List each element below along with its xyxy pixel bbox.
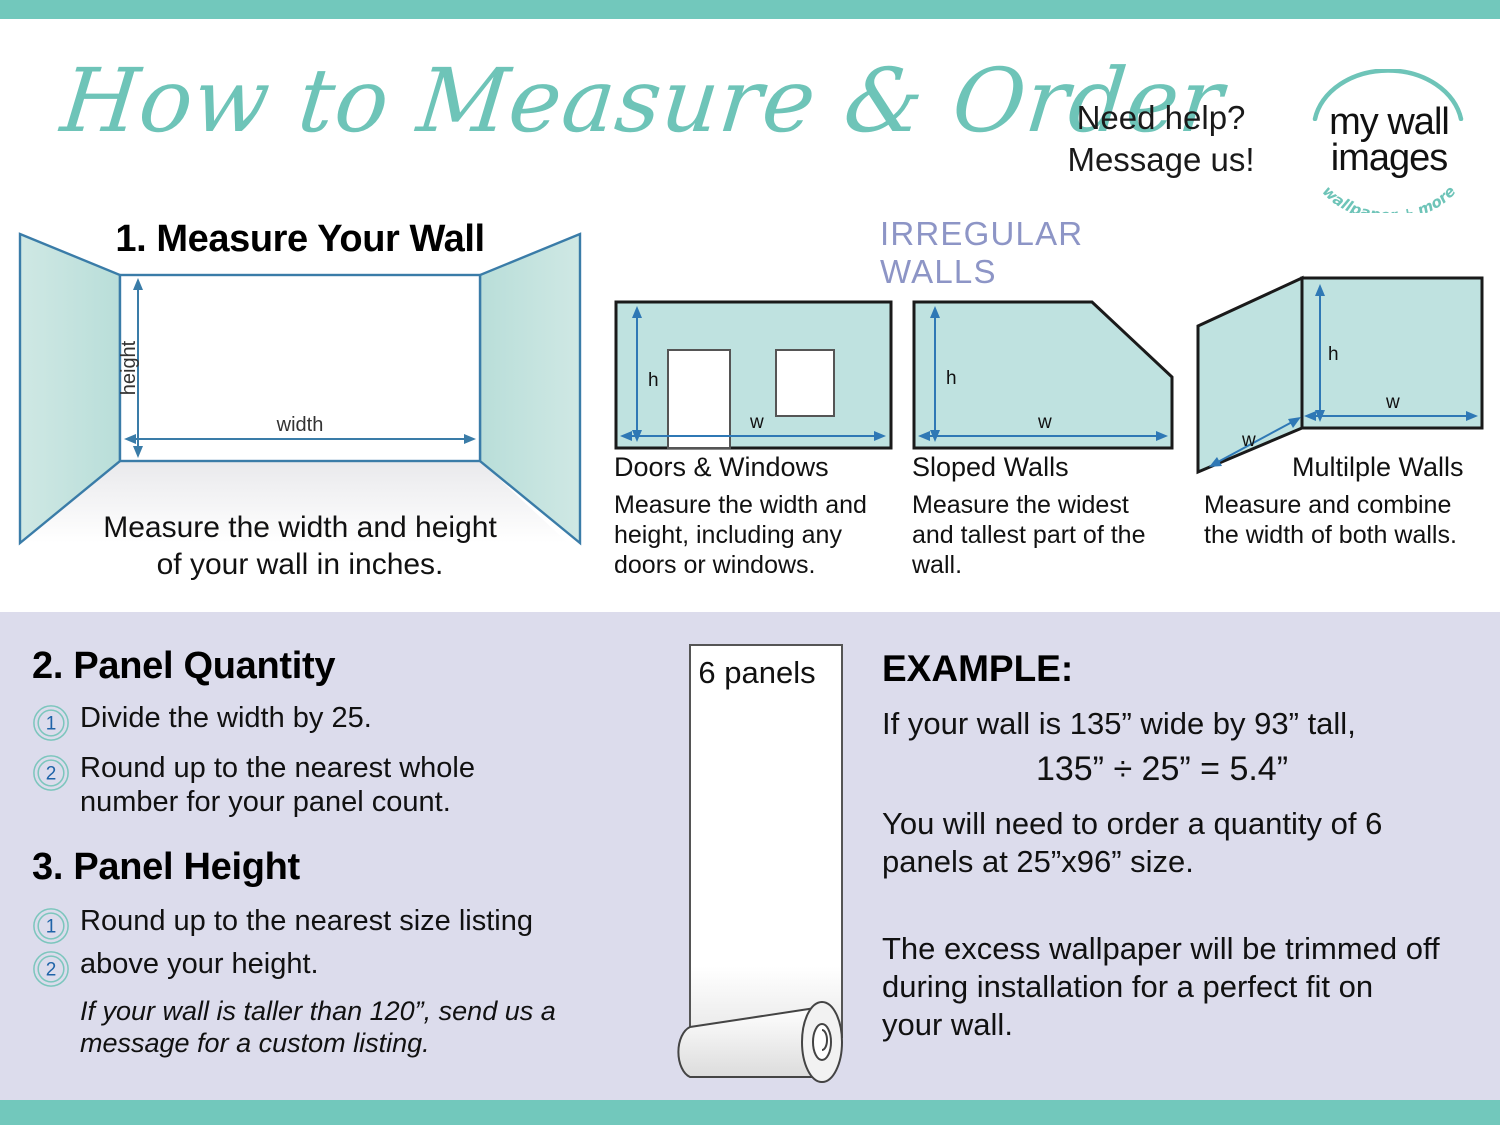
step-badge-1-icon: 1 xyxy=(32,704,70,742)
irregular-item-1-description: Measure the width and height, including … xyxy=(614,490,892,580)
logo-tagline: wallpaper + more xyxy=(1306,167,1472,213)
doors-windows-diagram: h w xyxy=(612,260,897,460)
height-label: height xyxy=(118,340,140,395)
example-heading: EXAMPLE: xyxy=(882,648,1073,690)
example-equation: 135” ÷ 25” = 5.4” xyxy=(882,750,1442,789)
svg-text:1: 1 xyxy=(46,917,57,938)
section1-caption-line-1: Measure the width and height xyxy=(24,510,576,547)
section3-note: If your wall is taller than 120”, send u… xyxy=(80,995,570,1060)
need-help-line-1: Need help? xyxy=(1030,97,1292,139)
section2-step-1: 1 Divide the width by 25. xyxy=(32,702,592,742)
irregular-item-1-title: Doors & Windows xyxy=(614,452,829,483)
brand-logo: my wall images wallpaper + more xyxy=(1300,67,1478,215)
section2-step-1-text: Divide the width by 25. xyxy=(80,702,372,736)
page-title: How to Measure & Order xyxy=(57,57,1026,145)
svg-text:1: 1 xyxy=(46,714,57,735)
section1-caption-line-2: of your wall in inches. xyxy=(24,547,576,584)
section-measure-your-wall: height width 1. Measure Your Wall Measur… xyxy=(0,212,600,607)
irregular-item-2-title: Sloped Walls xyxy=(912,452,1069,483)
svg-text:h: h xyxy=(1328,344,1339,365)
roll-label: 6 panels xyxy=(672,655,842,691)
section2-title: 2. Panel Quantity xyxy=(32,645,335,688)
svg-text:w: w xyxy=(1385,392,1400,413)
need-help-line-2: Message us! xyxy=(1030,139,1292,181)
irregular-item-3-title: Multilple Walls xyxy=(1292,452,1464,483)
bottom-border-band xyxy=(0,1100,1500,1125)
svg-text:2: 2 xyxy=(46,960,57,981)
header: How to Measure & Order Need help? Messag… xyxy=(0,19,1500,212)
svg-text:wallpaper + more: wallpaper + more xyxy=(1319,182,1459,213)
wallpaper-roll-illustration xyxy=(672,641,857,1091)
roll-sheet xyxy=(690,645,842,1037)
svg-text:h: h xyxy=(946,368,957,389)
section1-title: 1. Measure Your Wall xyxy=(0,218,600,261)
example-line-1: If your wall is 135” wide by 93” tall, xyxy=(882,705,1462,742)
example-line-2: You will need to order a quantity of 6 p… xyxy=(882,805,1442,881)
irregular-item-2-description: Measure the widest and tallest part of t… xyxy=(912,490,1174,580)
section1-caption: Measure the width and height of your wal… xyxy=(24,510,576,584)
top-border-band xyxy=(0,0,1500,19)
section3-step-2-text: above your height. xyxy=(80,948,319,982)
svg-text:2: 2 xyxy=(46,764,57,785)
need-help-text: Need help? Message us! xyxy=(1030,97,1292,181)
svg-text:w: w xyxy=(1241,430,1256,451)
section3-step-1: 1 Round up to the nearest size listing xyxy=(32,905,592,945)
section3-step-1-text: Round up to the nearest size listing xyxy=(80,905,533,939)
svg-text:w: w xyxy=(749,412,764,433)
example-line-3: The excess wallpaper will be trimmed off… xyxy=(882,930,1442,1043)
step-badge-3-icon: 1 xyxy=(32,907,70,945)
irregular-item-3-description: Measure and combine the width of both wa… xyxy=(1204,490,1492,550)
section2-step-2-text: Round up to the nearest whole number for… xyxy=(80,752,572,819)
step-badge-4-icon: 2 xyxy=(32,950,70,988)
sloped-wall-diagram: h w xyxy=(910,260,1180,460)
infographic-page: How to Measure & Order Need help? Messag… xyxy=(0,0,1500,1125)
door-shape xyxy=(668,350,730,448)
section3-title: 3. Panel Height xyxy=(32,846,300,889)
svg-text:h: h xyxy=(648,370,659,391)
width-label: width xyxy=(276,414,324,436)
step-badge-2-icon: 2 xyxy=(32,754,70,792)
room-perspective-diagram: height width xyxy=(0,212,600,552)
svg-text:w: w xyxy=(1037,412,1052,433)
section2-step-2: 2 Round up to the nearest whole number f… xyxy=(32,752,572,819)
section3-step-2: 2 above your height. xyxy=(32,948,592,988)
window-shape xyxy=(776,350,834,416)
